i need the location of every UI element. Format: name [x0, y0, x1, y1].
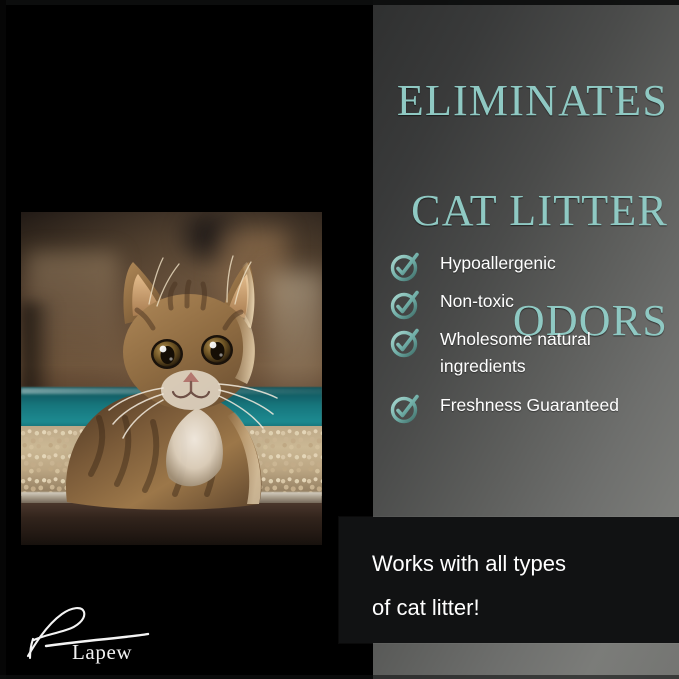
- feature-label: Wholesome natural ingredients: [440, 326, 666, 380]
- feature-list: Hypoallergenic Non-toxic Wholesome natur…: [390, 250, 668, 430]
- product-photo: [21, 212, 322, 545]
- product-ad-image: ELIMINATES CAT LITTER ODORS: [0, 0, 679, 679]
- brand-logo: Lapew: [24, 598, 174, 668]
- headline-line-1: ELIMINATES: [300, 73, 668, 128]
- kitten-illustration: [21, 212, 322, 545]
- feature-label: Non-toxic: [440, 288, 514, 315]
- check-circle-icon: [390, 327, 421, 358]
- callout-box: Works with all types of cat litter!: [339, 517, 679, 643]
- feature-item: Wholesome natural ingredients: [390, 326, 668, 380]
- feature-label: Freshness Guaranteed: [440, 392, 619, 419]
- feature-label: Hypoallergenic: [440, 250, 556, 277]
- bottom-edge-band: [0, 675, 679, 679]
- feature-item: Hypoallergenic: [390, 250, 668, 282]
- check-circle-icon: [390, 289, 421, 320]
- feature-item: Freshness Guaranteed: [390, 392, 668, 424]
- headline-line-2: CAT LITTER: [300, 183, 668, 238]
- brand-name: Lapew: [72, 640, 132, 665]
- check-circle-icon: [390, 393, 421, 424]
- check-circle-icon: [390, 251, 421, 282]
- left-edge-band: [0, 0, 6, 679]
- top-edge-band: [0, 0, 679, 5]
- callout-text: Works with all types of cat litter!: [372, 542, 662, 630]
- feature-item: Non-toxic: [390, 288, 668, 320]
